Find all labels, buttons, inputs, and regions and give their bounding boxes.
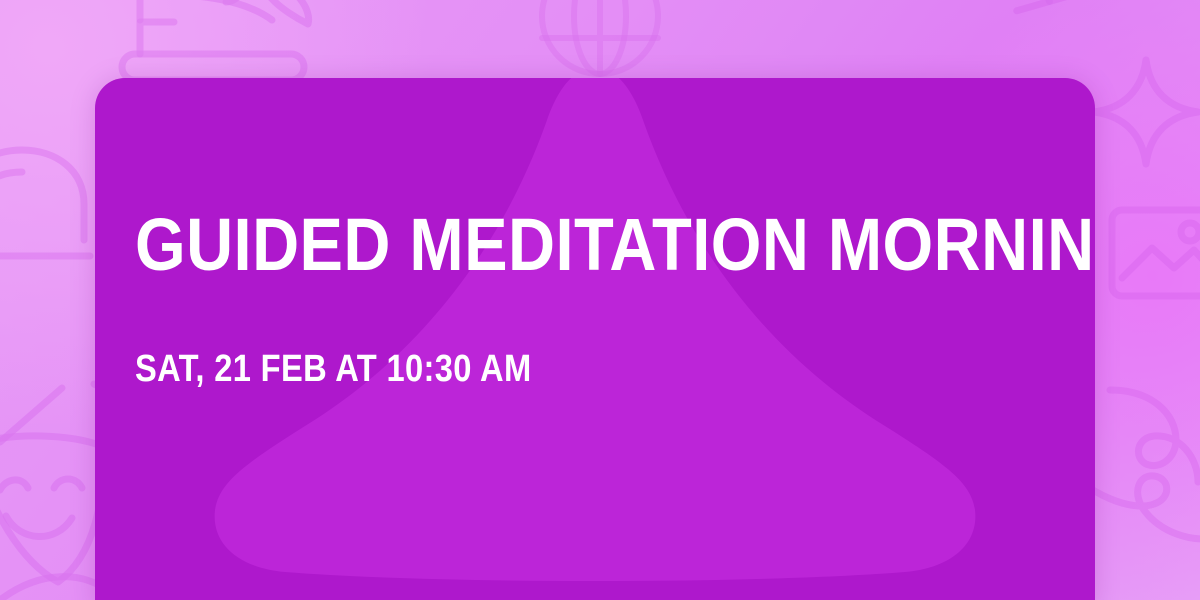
- sparkle-icon: [1094, 60, 1198, 164]
- sewing-machine-icon: [122, 0, 309, 80]
- card-text-content: Guided Meditation Morning Sat, 21 Feb at…: [135, 78, 1055, 600]
- event-title: Guided Meditation Morning: [135, 208, 1095, 282]
- arch-icon: [0, 150, 90, 256]
- event-datetime: Sat, 21 Feb at 10:30 AM: [135, 350, 532, 388]
- scissors-icon: [1007, 0, 1186, 22]
- event-card[interactable]: Guided Meditation Morning Sat, 21 Feb at…: [95, 78, 1095, 600]
- theater-mask-icon: [0, 436, 103, 582]
- picture-frame-icon: [1112, 210, 1200, 296]
- globe-icon: [542, 0, 658, 74]
- event-banner-screen: Guided Meditation Morning Sat, 21 Feb at…: [0, 0, 1200, 600]
